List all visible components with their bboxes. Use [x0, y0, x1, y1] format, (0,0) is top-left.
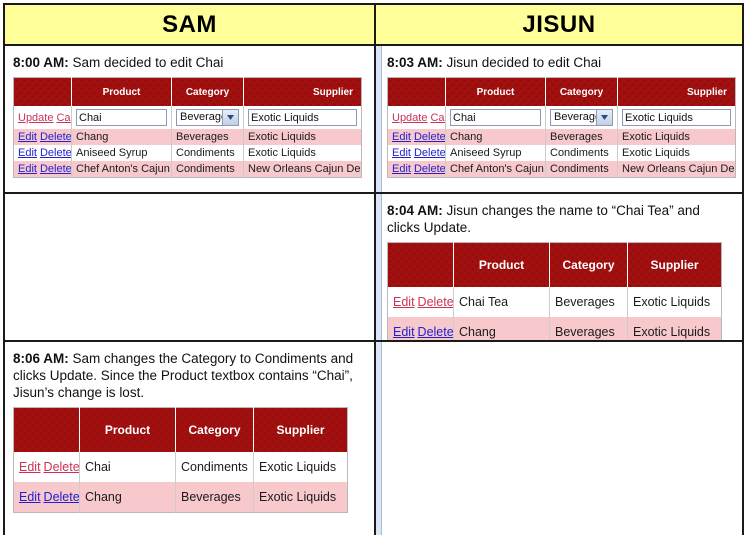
header-supplier-label: Supplier [244, 87, 361, 98]
header-category-label: Category [172, 87, 243, 98]
delete-link[interactable]: Delete [40, 163, 72, 175]
jisun-browser-pane-803: 8:03 AM: Jisun decided to edit Chai Prod… [376, 46, 742, 192]
edit-link[interactable]: Edit [393, 295, 415, 309]
caption-time: 8:06 AM: [13, 351, 69, 366]
supplier-edit-cell [244, 106, 362, 129]
chevron-down-icon[interactable] [596, 110, 612, 125]
header-category-label: Category [550, 258, 627, 272]
category-cell: Condiments [172, 161, 244, 178]
category-edit-cell: Beverages [546, 106, 618, 129]
sam-step-806-cell: 8:06 AM: Sam changes the Category to Con… [5, 342, 376, 535]
category-cell: Beverages [546, 129, 618, 145]
chevron-down-icon[interactable] [222, 110, 238, 125]
header-product-label: Product [446, 87, 545, 98]
table-row: EditDelete Chef Anton's Cajun Condiments… [388, 161, 736, 178]
product-cell: Chef Anton's Cajun [446, 161, 546, 178]
row-commands: EditDelete [388, 145, 446, 161]
product-cell: Chang [72, 129, 172, 145]
product-input[interactable] [76, 109, 167, 126]
table-row-editing: UpdateCancel Beverages [14, 106, 362, 129]
header-product-label: Product [454, 258, 549, 272]
delete-link[interactable]: Delete [44, 460, 80, 474]
header-commands [14, 78, 72, 107]
supplier-cell: Exotic Liquids [254, 452, 348, 482]
edit-link[interactable]: Edit [19, 490, 41, 504]
header-supplier: Supplier [254, 408, 348, 453]
header-category-label: Category [546, 87, 617, 98]
table-row: EditDelete Chang Beverages Exotic Liquid… [14, 129, 362, 145]
product-cell: Chai Tea [454, 287, 550, 317]
category-select[interactable]: Beverages [550, 109, 613, 126]
gridview-jisun-803: Product Category Supplier UpdateCancel [387, 77, 736, 178]
category-cell: Condiments [176, 452, 254, 482]
supplier-cell: Exotic Liquids [618, 145, 736, 161]
supplier-cell: Exotic Liquids [244, 145, 362, 161]
row-commands: EditDelete [14, 452, 80, 482]
delete-link[interactable]: Delete [44, 490, 80, 504]
supplier-input[interactable] [248, 109, 357, 126]
supplier-cell: Exotic Liquids [244, 129, 362, 145]
caption-sam-806: 8:06 AM: Sam changes the Category to Con… [13, 350, 368, 401]
product-cell: Chang [80, 482, 176, 513]
product-cell: Aniseed Syrup [446, 145, 546, 161]
category-edit-cell: Beverages [172, 106, 244, 129]
sam-title-bar: SAM [5, 5, 374, 44]
gridview-sam-806: Product Category Supplier EditDelete Cha… [13, 407, 348, 513]
category-cell: Beverages [550, 287, 628, 317]
header-supplier-label: Supplier [254, 423, 347, 437]
delete-link[interactable]: Delete [414, 163, 446, 175]
edit-link[interactable]: Edit [392, 147, 411, 159]
edit-link[interactable]: Edit [18, 163, 37, 175]
header-category: Category [172, 78, 244, 107]
supplier-input[interactable] [622, 109, 731, 126]
edit-link[interactable]: Edit [19, 460, 41, 474]
table-row: EditDelete Chai Tea Beverages Exotic Liq… [388, 287, 722, 317]
category-select[interactable]: Beverages [176, 109, 239, 126]
row-commands: EditDelete [388, 129, 446, 145]
supplier-edit-cell [618, 106, 736, 129]
caption-sam-800: 8:00 AM: Sam decided to edit Chai [13, 54, 368, 71]
jisun-title-bar: JISUN [376, 5, 742, 44]
header-product: Product [454, 243, 550, 288]
update-link[interactable]: Update [18, 112, 53, 124]
cancel-link[interactable]: Cancel [430, 112, 445, 124]
product-cell: Chef Anton's Cajun [72, 161, 172, 178]
caption-time: 8:04 AM: [387, 203, 443, 218]
supplier-cell: New Orleans Cajun Delights [244, 161, 362, 178]
header-supplier: Supplier [244, 78, 362, 107]
table-row-editing: UpdateCancel Beverages [388, 106, 736, 129]
header-category-label: Category [176, 423, 253, 437]
product-cell: Chai [80, 452, 176, 482]
row-commands: EditDelete [14, 145, 72, 161]
jisun-step-804-cell: 8:04 AM: Jisun changes the name to “Chai… [376, 194, 742, 342]
two-column-grid: SAM JISUN 8:00 AM: Sam decided to edit C… [3, 3, 744, 535]
table-row: EditDelete Aniseed Syrup Condiments Exot… [14, 145, 362, 161]
table-row: EditDelete Chef Anton's Cajun Condiments… [14, 161, 362, 178]
product-cell: Chang [446, 129, 546, 145]
table-header-row: Product Category Supplier [388, 78, 736, 107]
jisun-title-cell: JISUN [376, 5, 742, 46]
product-edit-cell [446, 106, 546, 129]
row-commands: EditDelete [14, 129, 72, 145]
supplier-cell: Exotic Liquids [628, 317, 722, 342]
row-commands: UpdateCancel [388, 106, 446, 129]
jisun-title-text: JISUN [522, 11, 595, 39]
delete-link[interactable]: Delete [40, 131, 72, 143]
jisun-browser-pane-empty [376, 342, 742, 535]
header-category: Category [546, 78, 618, 107]
row-commands: EditDelete [388, 317, 454, 342]
edit-link[interactable]: Edit [18, 131, 37, 143]
category-cell: Beverages [550, 317, 628, 342]
row-commands: EditDelete [14, 161, 72, 178]
edit-link[interactable]: Edit [18, 147, 37, 159]
header-product: Product [72, 78, 172, 107]
row-commands: EditDelete [388, 161, 446, 178]
sam-empty-cell [5, 194, 376, 342]
product-edit-cell [72, 106, 172, 129]
supplier-cell: Exotic Liquids [618, 129, 736, 145]
header-product-label: Product [72, 87, 171, 98]
update-link[interactable]: Update [392, 112, 427, 124]
jisun-step-803-cell: 8:03 AM: Jisun decided to edit Chai Prod… [376, 46, 742, 194]
edit-link[interactable]: Edit [393, 325, 415, 339]
header-product-label: Product [80, 423, 175, 437]
table-row: EditDelete Chang Beverages Exotic Liquid… [388, 129, 736, 145]
category-cell: Condiments [172, 145, 244, 161]
caption-jisun-803: 8:03 AM: Jisun decided to edit Chai [387, 54, 736, 71]
table-row: EditDelete Chai Condiments Exotic Liquid… [14, 452, 348, 482]
gridview-sam-800: Product Category Supplier UpdateCancel [13, 77, 362, 178]
gridview-jisun-804: Product Category Supplier EditDelete Cha… [387, 242, 722, 342]
supplier-cell: Exotic Liquids [628, 287, 722, 317]
edit-link[interactable]: Edit [392, 131, 411, 143]
delete-link[interactable]: Delete [414, 147, 446, 159]
product-input[interactable] [450, 109, 541, 126]
jisun-browser-pane-804: 8:04 AM: Jisun changes the name to “Chai… [376, 194, 742, 340]
header-commands [14, 408, 80, 453]
header-commands [388, 78, 446, 107]
header-commands [388, 243, 454, 288]
delete-link[interactable]: Delete [414, 131, 446, 143]
header-supplier: Supplier [628, 243, 722, 288]
jisun-empty-cell [376, 342, 742, 535]
sam-browser-pane-806: 8:06 AM: Sam changes the Category to Con… [5, 342, 374, 535]
category-cell: Condiments [546, 145, 618, 161]
header-category: Category [176, 408, 254, 453]
header-category: Category [550, 243, 628, 288]
category-cell: Beverages [172, 129, 244, 145]
table-row: EditDelete Aniseed Syrup Condiments Exot… [388, 145, 736, 161]
row-commands: EditDelete [388, 287, 454, 317]
category-cell: Beverages [176, 482, 254, 513]
delete-link[interactable]: Delete [418, 325, 454, 339]
header-supplier: Supplier [618, 78, 736, 107]
row-commands: EditDelete [14, 482, 80, 513]
table-row: EditDelete Chang Beverages Exotic Liquid… [388, 317, 722, 342]
header-product: Product [446, 78, 546, 107]
caption-time: 8:00 AM: [13, 55, 69, 70]
sam-title-cell: SAM [5, 5, 376, 46]
supplier-cell: Exotic Liquids [254, 482, 348, 513]
cancel-link[interactable]: Cancel [56, 112, 71, 124]
table-header-row: Product Category Supplier [388, 243, 722, 288]
header-supplier-label: Supplier [618, 87, 735, 98]
sam-browser-pane-800: 8:00 AM: Sam decided to edit Chai Produc… [5, 46, 374, 192]
delete-link[interactable]: Delete [418, 295, 454, 309]
table-header-row: Product Category Supplier [14, 408, 348, 453]
caption-text: Sam decided to edit Chai [69, 55, 224, 70]
delete-link[interactable]: Delete [40, 147, 72, 159]
caption-jisun-804: 8:04 AM: Jisun changes the name to “Chai… [387, 202, 736, 236]
category-cell: Condiments [546, 161, 618, 178]
caption-time: 8:03 AM: [387, 55, 443, 70]
table-row: EditDelete Chang Beverages Exotic Liquid… [14, 482, 348, 513]
product-cell: Aniseed Syrup [72, 145, 172, 161]
row-commands: UpdateCancel [14, 106, 72, 129]
supplier-cell: New Orleans Cajun Delights [618, 161, 736, 178]
edit-link[interactable]: Edit [392, 163, 411, 175]
product-cell: Chang [454, 317, 550, 342]
sam-step-800-cell: 8:00 AM: Sam decided to edit Chai Produc… [5, 46, 376, 194]
table-header-row: Product Category Supplier [14, 78, 362, 107]
sam-title-text: SAM [162, 11, 217, 39]
caption-text: Jisun decided to edit Chai [443, 55, 601, 70]
comparison-figure: SAM JISUN 8:00 AM: Sam decided to edit C… [0, 0, 747, 538]
header-supplier-label: Supplier [628, 258, 721, 272]
header-product: Product [80, 408, 176, 453]
